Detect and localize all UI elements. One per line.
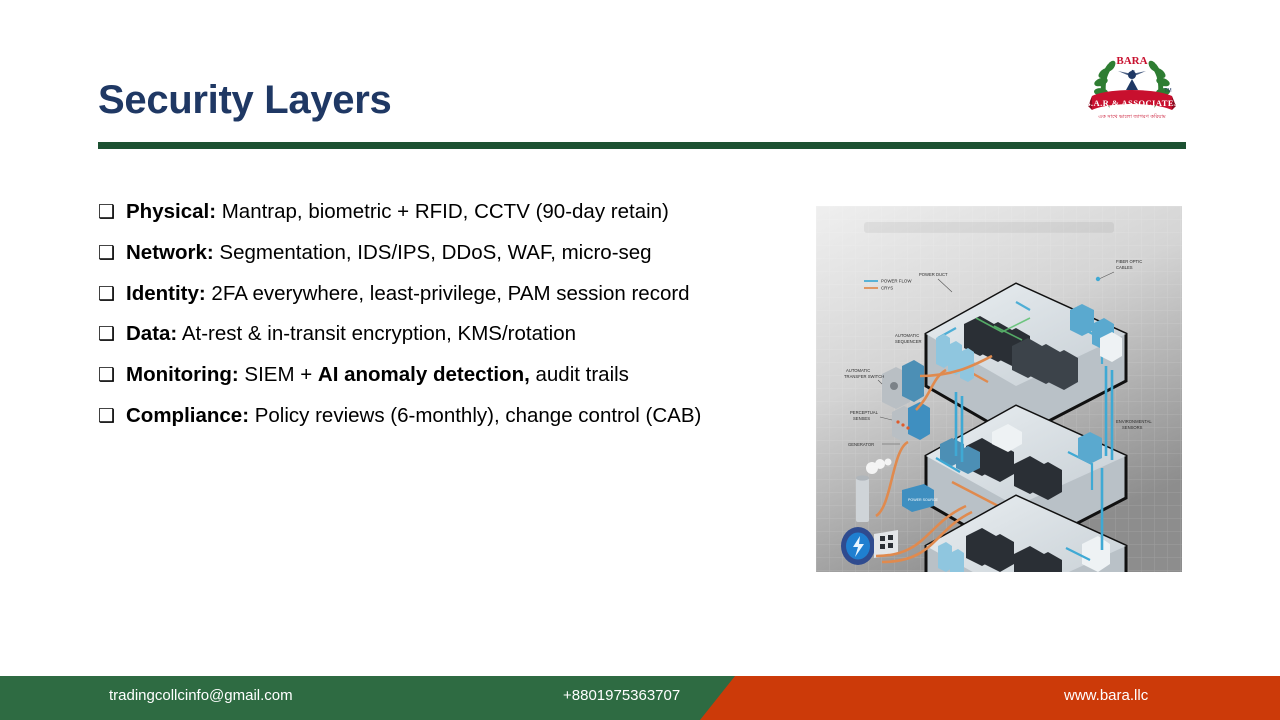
list-item-emphasis: AI anomaly detection,: [318, 363, 530, 386]
footer-website[interactable]: www.bara.llc: [1064, 687, 1148, 704]
footer-phone[interactable]: +8801975363707: [563, 687, 680, 704]
list-item-rest: At-rest & in-transit encryption, KMS/rot…: [177, 322, 576, 345]
list-item: ❑ Compliance: Policy reviews (6-monthly)…: [98, 404, 798, 429]
footer-email[interactable]: tradingcollcinfo@gmail.com: [109, 687, 293, 704]
page-title: Security Layers: [98, 78, 391, 123]
svg-text:POWER DUCT: POWER DUCT: [919, 272, 948, 277]
svg-text:SEQUENCER: SEQUENCER: [895, 339, 922, 344]
list-item-rest: Mantrap, biometric + RFID, CCTV (90-day …: [216, 200, 669, 223]
svg-text:এক সাথে ভালো জাগরণ করিয়াম: এক সাথে ভালো জাগরণ করিয়াম: [1098, 114, 1166, 120]
footer-orange-band: [700, 676, 1280, 720]
svg-text:AUTOMATIC: AUTOMATIC: [895, 333, 919, 338]
svg-text:CABLES: CABLES: [1116, 265, 1133, 270]
list-item-lead: Identity:: [126, 282, 206, 305]
list-item: ❑ Physical: Mantrap, biometric + RFID, C…: [98, 200, 798, 225]
svg-text:BARA: BARA: [1116, 55, 1147, 67]
list-item-lead: Physical:: [126, 200, 216, 223]
list-item-rest: 2FA everywhere, least-privilege, PAM ses…: [206, 282, 690, 305]
svg-text:PERCEPTUAL: PERCEPTUAL: [850, 410, 879, 415]
list-item-text: Physical: Mantrap, biometric + RFID, CCT…: [126, 200, 798, 224]
list-item-lead: Compliance:: [126, 404, 249, 427]
list-item-rest-post: audit trails: [530, 363, 629, 386]
list-item: ❑ Data: At-rest & in-transit encryption,…: [98, 322, 798, 347]
list-item-text: Compliance: Policy reviews (6-monthly), …: [126, 404, 798, 428]
list-item: ❑ Monitoring: SIEM + AI anomaly detectio…: [98, 363, 798, 388]
svg-text:SENSORS: SENSORS: [1122, 425, 1143, 430]
list-item-rest-pre: SIEM +: [239, 363, 318, 386]
list-item-lead: Monitoring:: [126, 363, 239, 386]
list-item-text: Network: Segmentation, IDS/IPS, DDoS, WA…: [126, 241, 798, 265]
svg-text:GENERATOR: GENERATOR: [848, 442, 874, 447]
svg-text:SENSES: SENSES: [853, 416, 870, 421]
svg-text:FIBER OPTIC: FIBER OPTIC: [1116, 259, 1142, 264]
security-layers-list: ❑ Physical: Mantrap, biometric + RFID, C…: [98, 200, 798, 445]
datacenter-diagram-image: POWER FLOW CRYS: [816, 206, 1182, 572]
checkbox-bullet-icon: ❑: [98, 282, 126, 307]
checkbox-bullet-icon: ❑: [98, 322, 126, 347]
svg-text:POWER SOURCE: POWER SOURCE: [908, 498, 939, 502]
company-logo: BARA B.A.R & ASSOCIATES TM এক সাথে ভালো …: [1088, 44, 1176, 132]
svg-text:AUTOMATIC: AUTOMATIC: [846, 368, 870, 373]
svg-text:CRYS: CRYS: [881, 286, 893, 291]
list-item-text: Data: At-rest & in-transit encryption, K…: [126, 322, 798, 346]
svg-text:TM: TM: [1164, 88, 1171, 94]
list-item-rest: Policy reviews (6-monthly), change contr…: [249, 404, 701, 427]
svg-text:B.A.R & ASSOCIATES: B.A.R & ASSOCIATES: [1088, 98, 1176, 108]
checkbox-bullet-icon: ❑: [98, 200, 126, 225]
list-item-lead: Data:: [126, 322, 177, 345]
list-item: ❑ Identity: 2FA everywhere, least-privil…: [98, 282, 798, 307]
list-item-text: Identity: 2FA everywhere, least-privileg…: [126, 282, 798, 306]
svg-text:POWER FLOW: POWER FLOW: [881, 279, 912, 284]
slide-footer: tradingcollcinfo@gmail.com +880197536370…: [0, 676, 1280, 720]
list-item-rest: Segmentation, IDS/IPS, DDoS, WAF, micro-…: [214, 241, 652, 264]
list-item-lead: Network:: [126, 241, 214, 264]
checkbox-bullet-icon: ❑: [98, 241, 126, 266]
list-item: ❑ Network: Segmentation, IDS/IPS, DDoS, …: [98, 241, 798, 266]
title-underline-rule: [98, 142, 1186, 149]
checkbox-bullet-icon: ❑: [98, 404, 126, 429]
list-item-text: Monitoring: SIEM + AI anomaly detection,…: [126, 363, 798, 387]
svg-text:TRANSFER SWITCH: TRANSFER SWITCH: [844, 374, 884, 379]
svg-text:ENVIRONMENTAL: ENVIRONMENTAL: [1116, 419, 1152, 424]
checkbox-bullet-icon: ❑: [98, 363, 126, 388]
